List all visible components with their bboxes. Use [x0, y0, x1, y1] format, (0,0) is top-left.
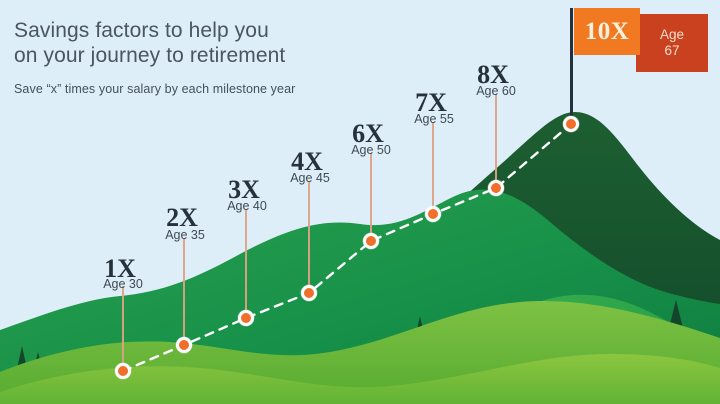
- leader-line-1x: [122, 286, 124, 366]
- milestone-age-4x: Age 45: [290, 171, 330, 185]
- milestone-dot-1x[interactable]: [115, 363, 131, 379]
- leader-line-2x: [183, 238, 185, 338]
- flag-pole: [570, 8, 573, 126]
- leader-line-7x: [432, 122, 434, 208]
- flag-age-ribbon: Age 67: [636, 14, 708, 72]
- title-line-1: Savings factors to help you: [14, 18, 285, 43]
- infographic-canvas: Savings factors to help you on your jour…: [0, 0, 720, 404]
- milestone-dot-2x[interactable]: [176, 337, 192, 353]
- milestone-dot-6x[interactable]: [363, 233, 379, 249]
- milestone-age-6x: Age 50: [351, 143, 391, 157]
- leader-line-8x: [495, 94, 497, 182]
- title-line-2: on your journey to retirement: [14, 43, 285, 68]
- flag-multiplier-label: 10X: [585, 18, 630, 46]
- milestone-dot-3x[interactable]: [238, 310, 254, 326]
- flag-age-value: 67: [664, 43, 679, 59]
- leader-line-3x: [245, 209, 247, 311]
- milestone-age-3x: Age 40: [227, 199, 267, 213]
- milestone-age-8x: Age 60: [476, 84, 516, 98]
- leader-line-4x: [308, 181, 310, 286]
- flag-age-word: Age: [660, 27, 684, 43]
- leader-line-6x: [370, 153, 372, 235]
- milestone-dot-7x[interactable]: [425, 206, 441, 222]
- milestone-age-7x: Age 55: [414, 112, 454, 126]
- milestone-age-1x: Age 30: [103, 277, 143, 291]
- milestone-dot-10x[interactable]: [563, 116, 579, 132]
- page-subtitle: Save “x” times your salary by each miles…: [14, 82, 295, 96]
- flag-multiplier-badge: 10X: [574, 8, 640, 55]
- milestone-age-2x: Age 35: [165, 228, 205, 242]
- milestone-dot-4x[interactable]: [301, 285, 317, 301]
- milestone-dot-8x[interactable]: [488, 180, 504, 196]
- page-title: Savings factors to help you on your jour…: [14, 18, 285, 68]
